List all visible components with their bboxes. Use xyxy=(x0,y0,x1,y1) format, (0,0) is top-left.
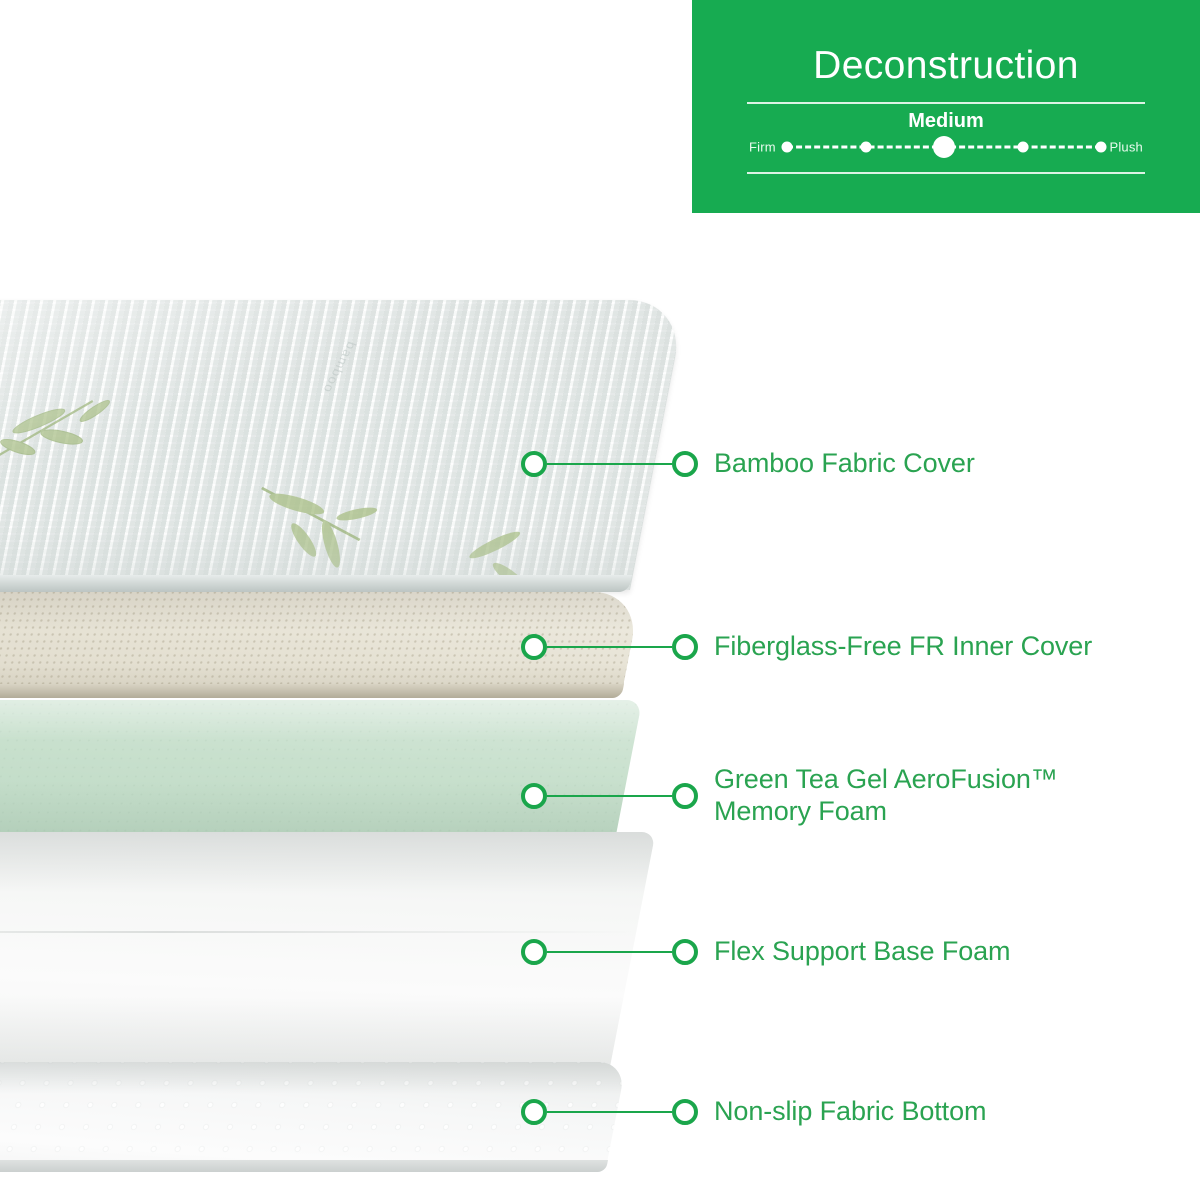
firmness-scale-dot-0[interactable] xyxy=(782,142,793,153)
callout-flex-support-base-foam: Flex Support Base Foam xyxy=(521,936,1010,968)
callout-green-tea-gel-memory-foam: Green Tea Gel AeroFusion™ Memory Foam xyxy=(521,764,1058,828)
callout-leader-line xyxy=(547,463,672,466)
callout-label-ring-icon xyxy=(672,451,698,477)
callout-non-slip-fabric-bottom: Non-slip Fabric Bottom xyxy=(521,1096,986,1128)
cover-sheen xyxy=(0,300,686,590)
deconstruction-banner: Deconstruction Medium Firm Plush xyxy=(692,0,1200,213)
callout-anchor-ring-icon xyxy=(521,634,547,660)
callout-anchor-ring-icon xyxy=(521,783,547,809)
callout-label-ring-icon xyxy=(672,783,698,809)
callout-leader-line xyxy=(547,795,672,798)
callout-label-bamboo-fabric-cover: Bamboo Fabric Cover xyxy=(714,448,975,480)
base-foam-crease xyxy=(0,931,636,933)
layer-bamboo-front-edge xyxy=(0,575,632,592)
layer-flex-support-base-foam xyxy=(0,832,610,1067)
firmness-scale-min-label: Firm xyxy=(749,140,776,155)
callout-label-fiberglass-free-fr-inner-cover: Fiberglass-Free FR Inner Cover xyxy=(714,631,1092,663)
banner-divider-top xyxy=(747,102,1145,104)
firmness-selected-label: Medium xyxy=(908,110,984,132)
callout-leader-line xyxy=(547,1111,672,1114)
layer-fr-front-edge xyxy=(0,684,624,698)
callout-label-non-slip-fabric-bottom: Non-slip Fabric Bottom xyxy=(714,1096,986,1128)
layer-bottom-front-edge xyxy=(0,1160,608,1172)
layer-bamboo-fabric-cover: bamboo xyxy=(0,300,630,590)
banner-title: Deconstruction xyxy=(813,46,1079,85)
layer-non-slip-fabric-bottom xyxy=(0,1062,606,1168)
callout-leader-line xyxy=(547,646,672,649)
firmness-scale[interactable]: Firm Plush xyxy=(747,134,1145,160)
callout-leader-line xyxy=(547,951,672,954)
callout-anchor-ring-icon xyxy=(521,1099,547,1125)
firmness-scale-dot-3[interactable] xyxy=(1017,142,1028,153)
banner-divider-bottom xyxy=(747,172,1145,174)
callout-label-ring-icon xyxy=(672,634,698,660)
firmness-scale-dot-2-selected[interactable] xyxy=(933,136,955,158)
callout-label-green-tea-gel-memory-foam: Green Tea Gel AeroFusion™ Memory Foam xyxy=(714,764,1058,828)
callout-label-ring-icon xyxy=(672,939,698,965)
callout-anchor-ring-icon xyxy=(521,939,547,965)
firmness-scale-dot-1[interactable] xyxy=(860,142,871,153)
firmness-scale-track[interactable] xyxy=(787,136,1101,158)
callout-fiberglass-free-fr-inner-cover: Fiberglass-Free FR Inner Cover xyxy=(521,631,1092,663)
infographic-canvas: bamboo xyxy=(0,0,1200,1200)
callout-label-ring-icon xyxy=(672,1099,698,1125)
firmness-scale-max-label: Plush xyxy=(1109,140,1143,155)
callout-label-flex-support-base-foam: Flex Support Base Foam xyxy=(714,936,1010,968)
firmness-scale-dot-4[interactable] xyxy=(1096,142,1107,153)
callout-anchor-ring-icon xyxy=(521,451,547,477)
callout-bamboo-fabric-cover: Bamboo Fabric Cover xyxy=(521,448,975,480)
